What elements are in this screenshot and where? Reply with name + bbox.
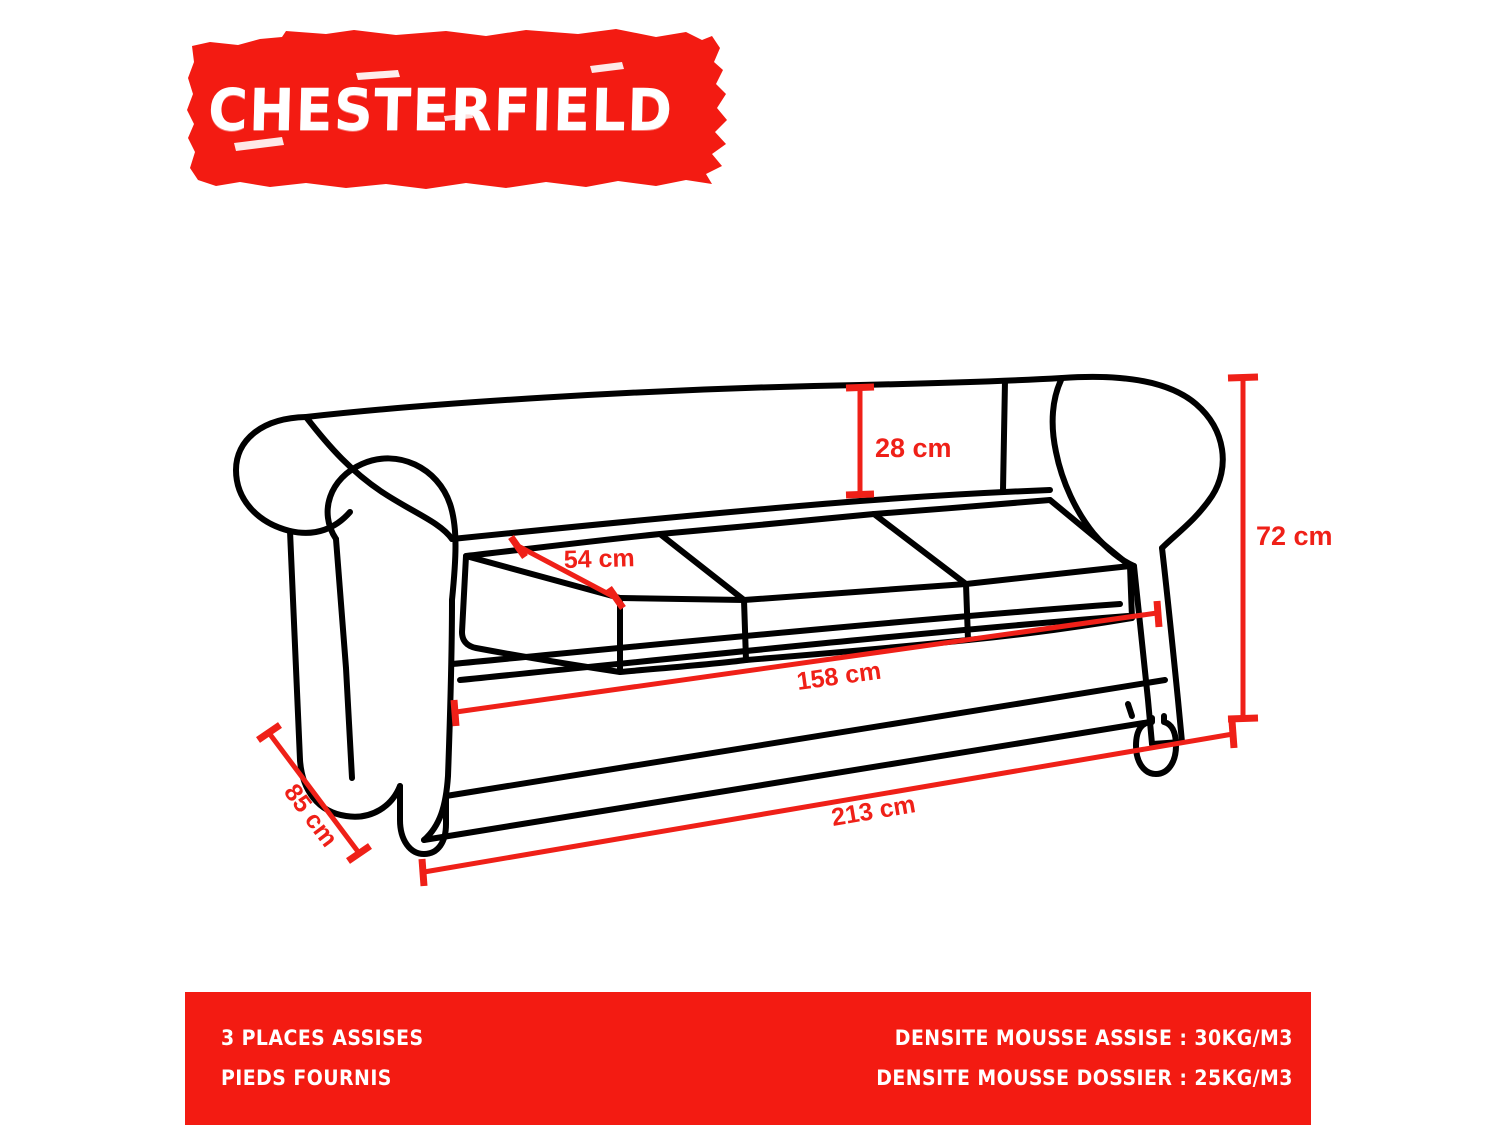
- cushion-2-front-top: [744, 584, 966, 600]
- cushion-3-back-edge: [874, 500, 1050, 514]
- left-arm-roll-outer: [236, 417, 350, 533]
- dimension-label-54cm: 54 cm: [563, 544, 635, 574]
- backrest-bottom-edge: [452, 490, 1050, 539]
- cushion-3-right-front: [1130, 566, 1132, 618]
- product-spec-sheet: CHESTERFIELD: [0, 0, 1500, 1125]
- dimension-label-72cm: 72 cm: [1256, 521, 1333, 551]
- spec-banner-left-column: 3 PLACES ASSISES PIEDS FOURNIS: [221, 1018, 424, 1098]
- dim-158-tick-end: [1157, 601, 1159, 627]
- cushion-3-front-top: [966, 566, 1130, 584]
- right-arm-front-outer-edge: [1162, 548, 1182, 742]
- left-arm-roll-inner: [328, 458, 456, 600]
- dim-85-tick-end: [348, 846, 370, 861]
- dim-72-tick-bottom: [1228, 718, 1258, 719]
- spec-seats: 3 PLACES ASSISES: [221, 1018, 424, 1058]
- dim-213-line: [424, 734, 1233, 872]
- left-arm-front-left-edge: [290, 531, 300, 760]
- dim-158-tick-start: [454, 700, 456, 726]
- spec-seat-foam-density: DENSITE MOUSSE ASSISE : 30KG/M3: [876, 1018, 1293, 1058]
- dimension-213cm: [422, 721, 1234, 886]
- dimension-label-28cm: 28 cm: [875, 433, 952, 463]
- sofa-outline-group: [236, 377, 1223, 854]
- right-back-leg-hint: [1128, 704, 1132, 716]
- spec-banner: 3 PLACES ASSISES PIEDS FOURNIS DENSITE M…: [185, 992, 1311, 1125]
- left-arm-front-right-edge: [336, 539, 352, 778]
- dim-213-tick-end: [1232, 721, 1234, 748]
- spec-back-foam-density: DENSITE MOUSSE DOSSIER : 25KG/M3: [876, 1058, 1293, 1098]
- spec-banner-right-column: DENSITE MOUSSE ASSISE : 30KG/M3 DENSITE …: [876, 1018, 1293, 1098]
- dim-213-tick-start: [422, 859, 424, 886]
- dim-28-tick-bottom: [846, 494, 874, 495]
- cushion-1-right-front: [744, 600, 746, 660]
- backrest-seam: [1003, 381, 1005, 490]
- dim-85-tick-start: [258, 725, 280, 740]
- cushion-2-right-edge: [874, 514, 966, 584]
- cushion-1-right-edge: [660, 534, 744, 600]
- dimension-label-213cm: 213 cm: [829, 790, 917, 832]
- cushion-1-front-top: [620, 598, 744, 600]
- dim-72-tick-top: [1228, 377, 1258, 378]
- dimension-28cm: [846, 387, 874, 495]
- dim-28-tick-top: [846, 387, 874, 388]
- backrest-top-edge: [306, 378, 1062, 417]
- cushion-2-right-front: [966, 584, 968, 640]
- seat-front-rail-bottom: [460, 616, 1128, 680]
- sofa-diagram: 28 cm 54 cm 72 cm 158 cm 213 cm 85 cm: [0, 0, 1500, 1125]
- dimension-72cm: [1228, 377, 1258, 719]
- spec-legs: PIEDS FOURNIS: [221, 1058, 424, 1098]
- sofa-drawing-svg: 28 cm 54 cm 72 cm 158 cm 213 cm 85 cm: [0, 0, 1500, 1125]
- dimension-lines-group: [258, 377, 1258, 886]
